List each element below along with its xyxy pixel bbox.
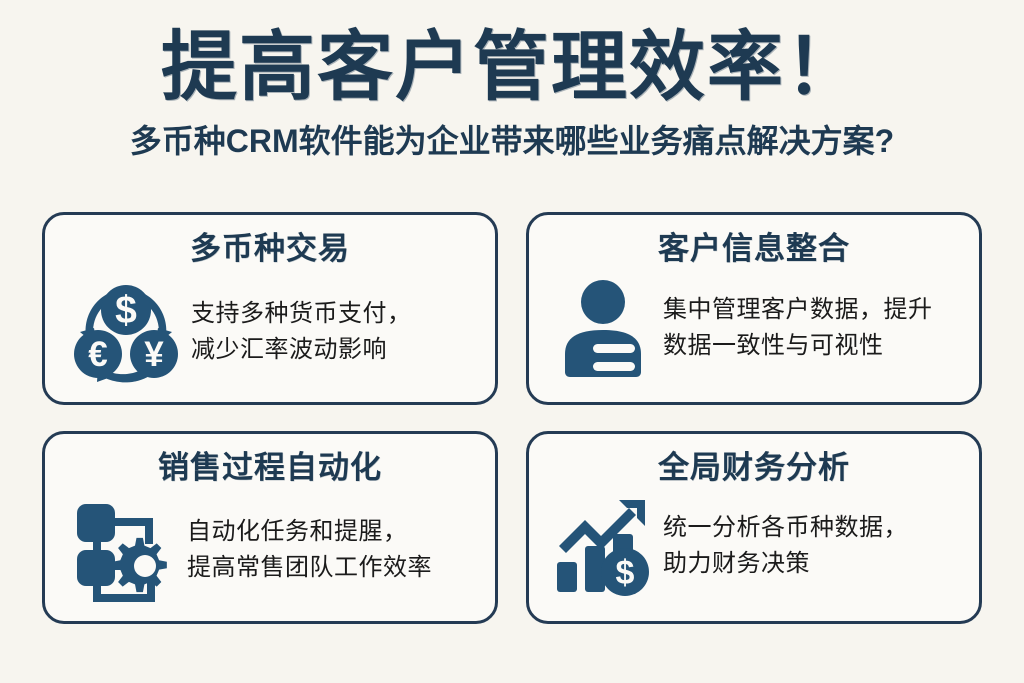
growth-chart-dollar-icon: $ (547, 491, 659, 601)
card-body-automation: 自动化任务和提腥， 提高常售团队工作效率 (45, 491, 495, 609)
card-text-line: 集中管理客户数据，提升 (663, 292, 965, 328)
feature-card-customer[interactable]: 客户信息整合 集中管理客户数据，提升 (526, 212, 982, 405)
card-title-customer: 客户信息整合 (529, 232, 979, 266)
svg-text:$: $ (115, 289, 137, 332)
card-title-finance: 全局财务分析 (529, 451, 979, 485)
card-text-line: 数据一致性与可视性 (663, 328, 965, 364)
card-text-line: 减少汇率波动影响 (191, 332, 481, 368)
workflow-gear-icon (63, 491, 183, 609)
page-title: 提高客户管理效率！ (0, 26, 1024, 110)
feature-card-automation[interactable]: 销售过程自动化 (42, 431, 498, 624)
svg-text:$: $ (616, 554, 635, 592)
currency-exchange-icon: $ € ¥ (63, 272, 189, 392)
card-text-automation: 自动化任务和提腥， 提高常售团队工作效率 (183, 514, 481, 586)
card-body-customer: 集中管理客户数据，提升 数据一致性与可视性 (529, 272, 979, 384)
card-text-line: 支持多种货币支付， (191, 296, 481, 332)
card-text-finance: 统一分析各币种数据， 助力财务决策 (659, 510, 965, 582)
page-subtitle: 多币种CRM软件能为企业带来哪些业务痛点解决方案? (0, 122, 1024, 160)
poster-header: 提高客户管理效率！ 多币种CRM软件能为企业带来哪些业务痛点解决方案? (0, 0, 1024, 160)
card-text-currency: 支持多种货币支付， 减少汇率波动影响 (189, 296, 481, 368)
feature-card-grid: 多币种交易 (42, 212, 982, 624)
user-profile-icon (547, 272, 659, 384)
feature-card-currency[interactable]: 多币种交易 (42, 212, 498, 405)
card-body-finance: $ 统一分析各币种数据， 助力财务决策 (529, 491, 979, 601)
infographic-poster: 提高客户管理效率！ 多币种CRM软件能为企业带来哪些业务痛点解决方案? 多币种交… (0, 0, 1024, 683)
card-title-currency: 多币种交易 (45, 232, 495, 266)
card-text-line: 统一分析各币种数据， (663, 510, 965, 546)
card-text-line: 提高常售团队工作效率 (187, 550, 481, 586)
feature-card-finance[interactable]: 全局财务分析 (526, 431, 982, 624)
card-title-automation: 销售过程自动化 (45, 451, 495, 485)
svg-text:€: € (88, 335, 107, 374)
card-text-line: 自动化任务和提腥， (187, 514, 481, 550)
card-body-currency: $ € ¥ 支持多种货币支付， 减少汇率波动影响 (45, 272, 495, 392)
svg-text:¥: ¥ (144, 335, 164, 374)
card-text-customer: 集中管理客户数据，提升 数据一致性与可视性 (659, 292, 965, 364)
card-text-line: 助力财务决策 (663, 546, 965, 582)
